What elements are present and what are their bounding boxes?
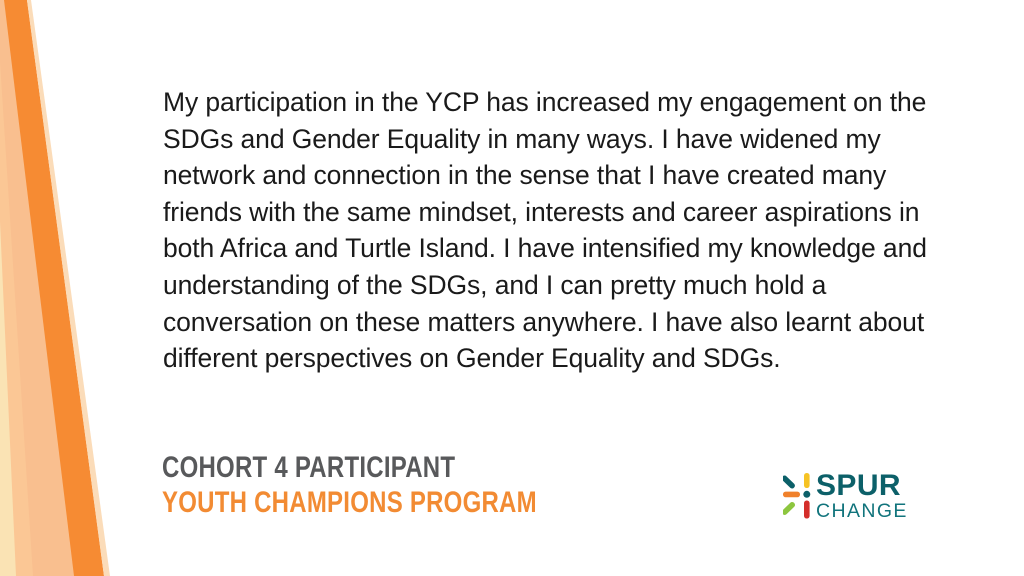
spur-change-wordmark: SPUR CHANGE (816, 472, 916, 522)
logo-word-change: CHANGE (816, 501, 916, 522)
burst-ray-green (783, 501, 796, 516)
attribution-block: COHORT 4 PARTICIPANT YOUTH CHAMPIONS PRO… (162, 450, 631, 520)
spur-change-burst-icon (783, 472, 817, 520)
attribution-cohort-label: COHORT 4 PARTICIPANT (162, 450, 537, 485)
burst-center-dot (803, 491, 810, 498)
burst-ray-teal (783, 474, 796, 489)
quote-text: My participation in the YCP has increase… (163, 84, 933, 377)
slide-canvas: My participation in the YCP has increase… (0, 0, 1024, 576)
burst-ray-red (804, 501, 810, 519)
spur-change-logo: SPUR CHANGE (783, 472, 915, 524)
logo-word-spur: SPUR (816, 472, 916, 500)
burst-ray-orange (783, 492, 800, 498)
attribution-program-label: YOUTH CHAMPIONS PROGRAM (162, 485, 537, 520)
burst-ray-yellow (804, 473, 810, 488)
quote-paragraph: My participation in the YCP has increase… (163, 84, 933, 377)
